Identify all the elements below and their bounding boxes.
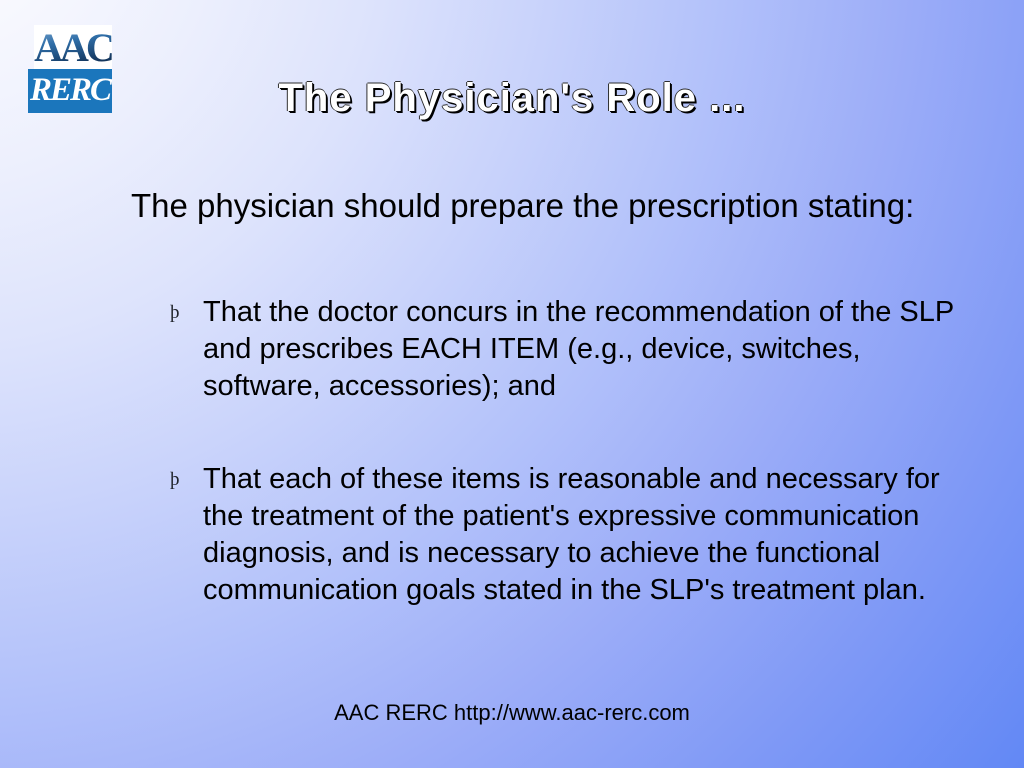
thorn-bullet-icon: þ [170, 294, 203, 332]
bullet-item: þ That the doctor concurs in the recomme… [170, 294, 970, 405]
slide-footer: AAC RERC http://www.aac-rerc.com [0, 700, 1024, 726]
thorn-bullet-icon: þ [170, 461, 203, 499]
slide-title: The Physician's Role ... [0, 74, 1024, 122]
bullet-item-label: That the doctor concurs in the recommend… [203, 294, 970, 405]
slide-lead-text: The physician should prepare the prescri… [131, 186, 959, 226]
presentation-slide: AAC RERC The Physician's Role ... The ph… [0, 0, 1024, 768]
bullet-item: þ That each of these items is reasonable… [170, 461, 970, 609]
bullet-item-label: That each of these items is reasonable a… [203, 461, 970, 609]
